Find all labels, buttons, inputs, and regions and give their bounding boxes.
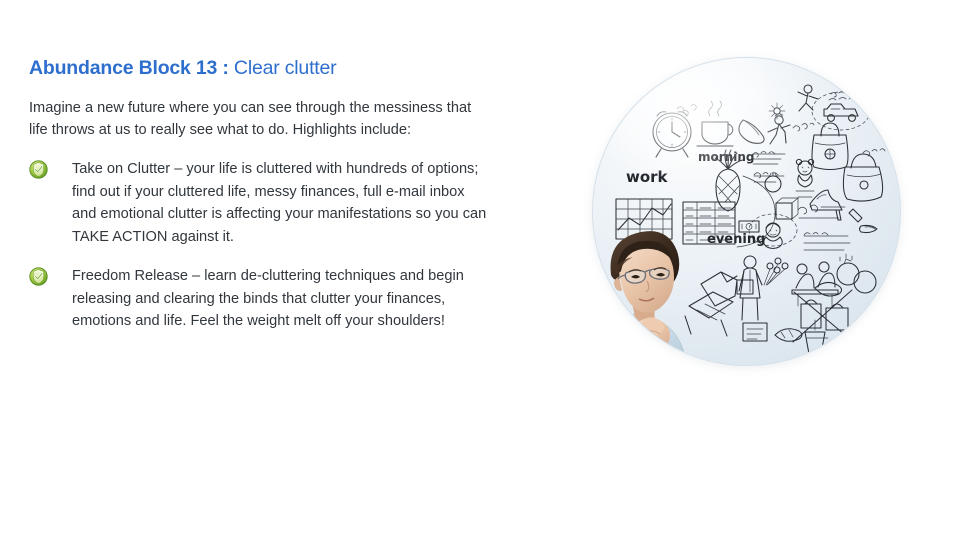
slide-text-column: Abundance Block 13 : Clear clutter Imagi…	[29, 56, 539, 350]
perfume-bottle-doodle	[849, 209, 877, 233]
drink-cup-doodle	[805, 320, 828, 354]
green-check-badge-icon	[29, 160, 48, 179]
highlights-list: Take on Clutter – your life is cluttered…	[29, 158, 539, 333]
person-with-flowers-doodle	[739, 256, 788, 320]
fashion-scribble	[863, 149, 885, 156]
list-item: Freedom Release – learn de-cluttering te…	[29, 265, 539, 333]
people-at-table-doodle	[792, 262, 838, 306]
page-title-light: Clear clutter	[229, 57, 337, 79]
woman-portrait	[595, 215, 745, 365]
diet-note-scribble	[753, 152, 785, 165]
list-item-label: Take on Clutter – your life is cluttered…	[72, 158, 492, 248]
list-item: Take on Clutter – your life is cluttered…	[29, 158, 539, 248]
doodle-word-work: work	[626, 168, 669, 186]
sale-sign-doodle	[743, 323, 767, 341]
coffee-cup-doodle	[697, 101, 733, 146]
jumping-person-doodle	[798, 85, 818, 111]
slide-canvas: Abundance Block 13 : Clear clutter Imagi…	[0, 0, 980, 545]
of-course-scribble	[798, 205, 845, 218]
bread-doodle	[775, 329, 802, 342]
holiday-note-scribble	[804, 233, 850, 251]
briefcase-doodle	[776, 198, 798, 219]
car-doodle	[812, 92, 870, 131]
fitness-word-scribble	[754, 173, 778, 179]
page-title-strong: Abundance Block 13 :	[29, 57, 229, 79]
green-check-badge-icon	[29, 267, 48, 286]
page-title: Abundance Block 13 : Clear clutter	[29, 56, 539, 80]
thoughtful-woman-with-doodles-photo: morning work evening	[593, 58, 900, 365]
list-item-label: Freedom Release – learn de-cluttering te…	[72, 265, 492, 333]
banana-doodle	[739, 120, 764, 143]
handbag-second-doodle	[843, 154, 882, 201]
running-person-doodle	[768, 114, 790, 144]
children-scribble	[796, 191, 814, 197]
tea-scribble	[793, 123, 814, 131]
teddy-bear-doodle	[796, 159, 813, 187]
wedding-rings-doodle	[837, 254, 876, 293]
alarm-clock-doodle	[653, 112, 691, 157]
intro-paragraph: Imagine a new future where you can see t…	[29, 98, 489, 141]
